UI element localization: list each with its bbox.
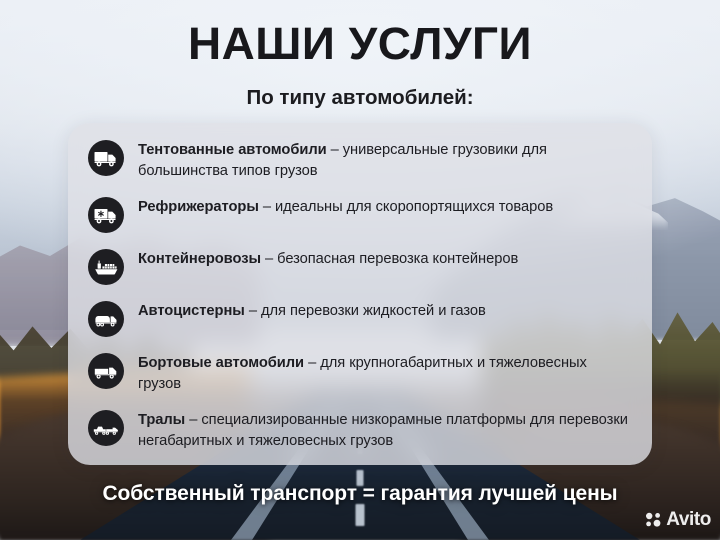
service-term: Рефрижераторы: [138, 199, 259, 215]
service-text: Тралы – специализированные низкорамные п…: [138, 409, 632, 451]
service-term: Автоцистерны: [138, 303, 245, 319]
service-row: Тралы – специализированные низкорамные п…: [88, 409, 632, 451]
page-title: НАШИ УСЛУГИ: [0, 19, 720, 69]
service-description: – для перевозки жидкостей и газов: [245, 303, 486, 319]
page-subtitle: По типу автомобилей:: [0, 86, 720, 110]
service-term: Контейнеровозы: [138, 251, 261, 267]
service-description: – безопасная перевозка контейнеров: [261, 251, 518, 267]
service-description: – специализированные низкорамные платфор…: [138, 412, 628, 449]
lowboy-trailer-icon: [88, 410, 124, 446]
service-text: Автоцистерны – для перевозки жидкостей и…: [138, 300, 486, 322]
services-poster: НАШИ УСЛУГИ По типу автомобилей: Тентова…: [0, 0, 720, 540]
tanker-truck-icon: [88, 301, 124, 337]
box-truck-icon: [88, 140, 124, 176]
service-row: Автоцистерны – для перевозки жидкостей и…: [88, 300, 632, 337]
service-term: Тралы: [138, 412, 185, 428]
service-text: Тентованные автомобили – универсальные г…: [138, 139, 632, 181]
service-row: Тентованные автомобили – универсальные г…: [88, 139, 632, 181]
services-card: Тентованные автомобили – универсальные г…: [68, 123, 652, 465]
service-row: Контейнеровозы – безопасная перевозка ко…: [88, 248, 632, 285]
service-row: Рефрижераторы – идеальны для скоропортящ…: [88, 196, 632, 233]
avito-wordmark: Avito: [666, 509, 711, 531]
service-row: Бортовые автомобили – для крупногабаритн…: [88, 352, 632, 394]
avito-watermark: Avito: [645, 509, 711, 531]
service-description: – идеальны для скоропортящихся товаров: [259, 199, 553, 215]
service-text: Контейнеровозы – безопасная перевозка ко…: [138, 248, 518, 270]
footer-tagline: Собственный транспорт = гарантия лучшей …: [0, 481, 720, 507]
refrigerated-truck-icon: [88, 197, 124, 233]
service-text: Рефрижераторы – идеальны для скоропортящ…: [138, 196, 553, 218]
avito-logo-icon: [645, 512, 662, 528]
container-ship-icon: [88, 249, 124, 285]
service-term: Бортовые автомобили: [138, 355, 304, 371]
flatbed-truck-icon: [88, 353, 124, 389]
service-term: Тентованные автомобили: [138, 142, 327, 158]
service-text: Бортовые автомобили – для крупногабаритн…: [138, 352, 632, 394]
